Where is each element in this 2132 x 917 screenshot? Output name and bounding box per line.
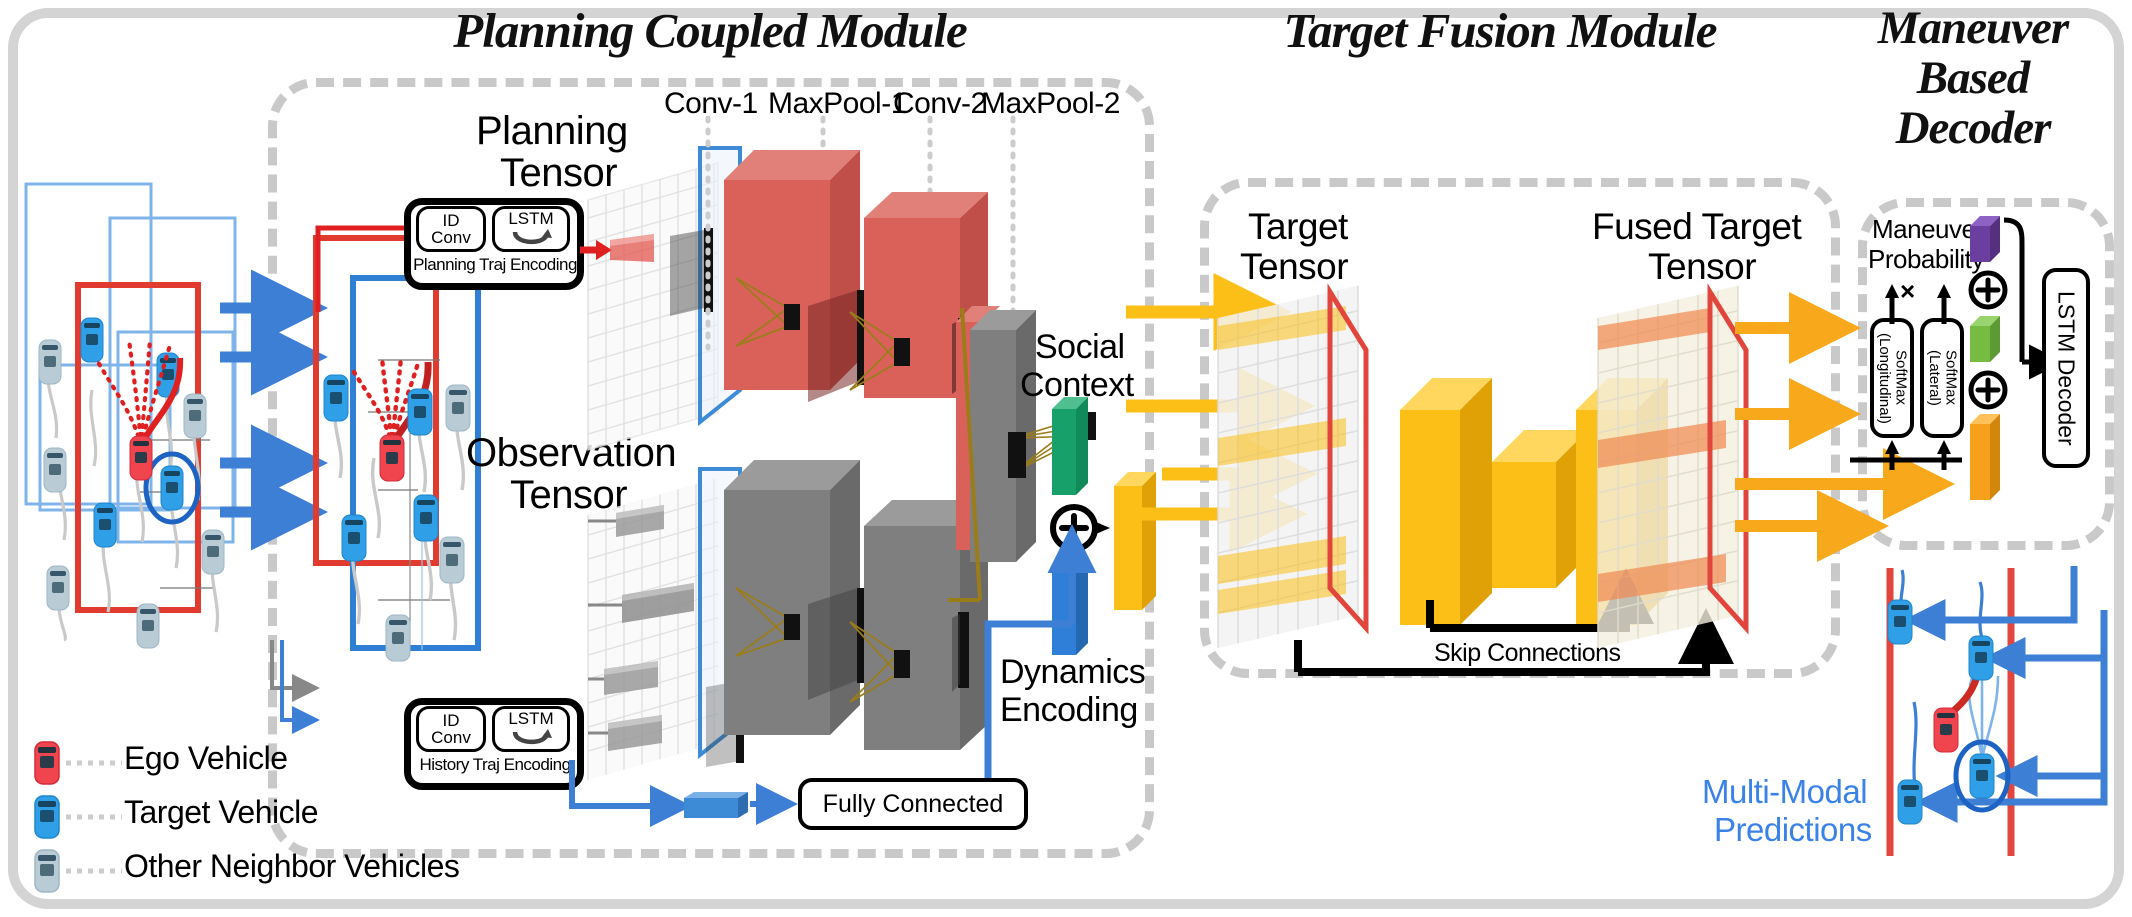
fully-connected-label: Fully Connected xyxy=(823,790,1004,819)
target-tensor-label-line2: Tensor xyxy=(1240,248,1348,287)
planning-traj-encoding-caption: Planning Traj Encoding xyxy=(410,256,580,274)
fused-target-tensor-label-line2: Tensor xyxy=(1648,248,1756,287)
legend-item-neighbor: Other Neighbor Vehicles xyxy=(22,844,422,894)
softmax-lateral-block[interactable]: SoftMax (Lateral) xyxy=(1920,318,1964,438)
title-planning-coupled-module: Planning Coupled Module xyxy=(420,6,1000,55)
lstm-decoder-label: LSTM Decoder xyxy=(2053,291,2080,446)
fully-connected-block[interactable]: Fully Connected xyxy=(798,778,1028,830)
cnn-label-conv-1: Conv-1 xyxy=(664,88,758,120)
history-id-conv-line2: Conv xyxy=(431,729,471,746)
lstm-recurrent-arrow-icon xyxy=(509,229,553,249)
multimodal-predictions-caption-line2: Predictions xyxy=(1714,813,1872,848)
maneuver-multiply-operator: × xyxy=(1900,278,1915,305)
history-lstm-label: LSTM xyxy=(508,709,553,729)
title-target-fusion-module: Target Fusion Module xyxy=(1240,6,1760,55)
softmax-longitudinal-line2: (Longitudinal) xyxy=(1876,333,1893,424)
car-icon-gray xyxy=(30,848,64,894)
social-context-vector xyxy=(1050,395,1100,505)
lstm-recurrent-arrow-icon-2 xyxy=(509,729,553,749)
history-id-conv-line1: ID xyxy=(431,712,471,729)
softmax-longitudinal-text: SoftMax (Longitudinal) xyxy=(1876,333,1909,424)
history-id-conv-block[interactable]: ID Conv xyxy=(416,706,486,752)
history-lstm-block[interactable]: LSTM xyxy=(492,706,570,752)
planning-id-conv-line2: Conv xyxy=(431,229,471,246)
legend-leader-line-ego xyxy=(66,760,122,766)
cnn-label-maxpool-1: MaxPool-1 xyxy=(768,88,907,120)
social-dynamics-concat-operator[interactable] xyxy=(1048,502,1104,558)
legend-label-neighbor: Other Neighbor Vehicles xyxy=(124,850,459,884)
maneuver-vector-orange xyxy=(1968,412,2008,504)
legend-label-ego: Ego Vehicle xyxy=(124,742,288,776)
title-maneuver-based-decoder-line3: Decoder xyxy=(1828,105,2118,152)
car-icon-blue xyxy=(30,794,64,840)
planning-lstm-block[interactable]: LSTM xyxy=(492,206,570,252)
lstm-decoder-block[interactable]: LSTM Decoder xyxy=(2042,268,2090,468)
softmax-longitudinal-block[interactable]: SoftMax (Longitudinal) xyxy=(1870,318,1914,438)
legend-item-target: Target Vehicle xyxy=(22,790,422,840)
softmax-lateral-line1: SoftMax xyxy=(1943,350,1960,405)
cnn-label-maxpool-2: MaxPool-2 xyxy=(981,88,1120,120)
skip-connections-label: Skip Connections xyxy=(1434,640,1621,666)
softmax-input-arrows xyxy=(1866,436,1976,476)
legend-label-target: Target Vehicle xyxy=(124,796,318,830)
social-context-label-line1: Social xyxy=(1035,330,1125,366)
legend-leader-line-neighbor xyxy=(66,868,122,874)
target-tensor-label-line1: Target xyxy=(1248,208,1348,247)
multimodal-predictions-caption-line1: Multi-Modal xyxy=(1702,775,1867,810)
cnn-label-conv-2: Conv-2 xyxy=(893,88,987,120)
legend-leader-line-target xyxy=(66,814,122,820)
history-traj-encoding-caption: History Traj Encoding xyxy=(408,756,582,774)
softmax-lateral-text: SoftMax (Lateral) xyxy=(1926,350,1959,406)
fused-target-tensor-label-line1: Fused Target xyxy=(1592,208,1801,247)
planning-id-conv-block[interactable]: ID Conv xyxy=(416,206,486,252)
title-maneuver-based-decoder-line2: Based xyxy=(1828,55,2118,102)
softmax-output-arrows xyxy=(1866,282,1976,326)
car-icon-red xyxy=(30,740,64,786)
softmax-lateral-line2: (Lateral) xyxy=(1926,350,1943,406)
legend-item-ego: Ego Vehicle xyxy=(22,736,422,786)
title-maneuver-based-decoder-line1: Maneuver xyxy=(1828,5,2118,52)
planning-id-conv-line1: ID xyxy=(431,212,471,229)
figure-canvas: Planning Coupled Module Target Fusion Mo… xyxy=(0,0,2132,917)
planning-lstm-label: LSTM xyxy=(508,209,553,229)
multimodal-prediction-scene xyxy=(1848,562,2128,862)
softmax-longitudinal-line1: SoftMax xyxy=(1893,350,1910,405)
maneuver-probability-label-line1: Maneuver xyxy=(1872,216,1984,243)
